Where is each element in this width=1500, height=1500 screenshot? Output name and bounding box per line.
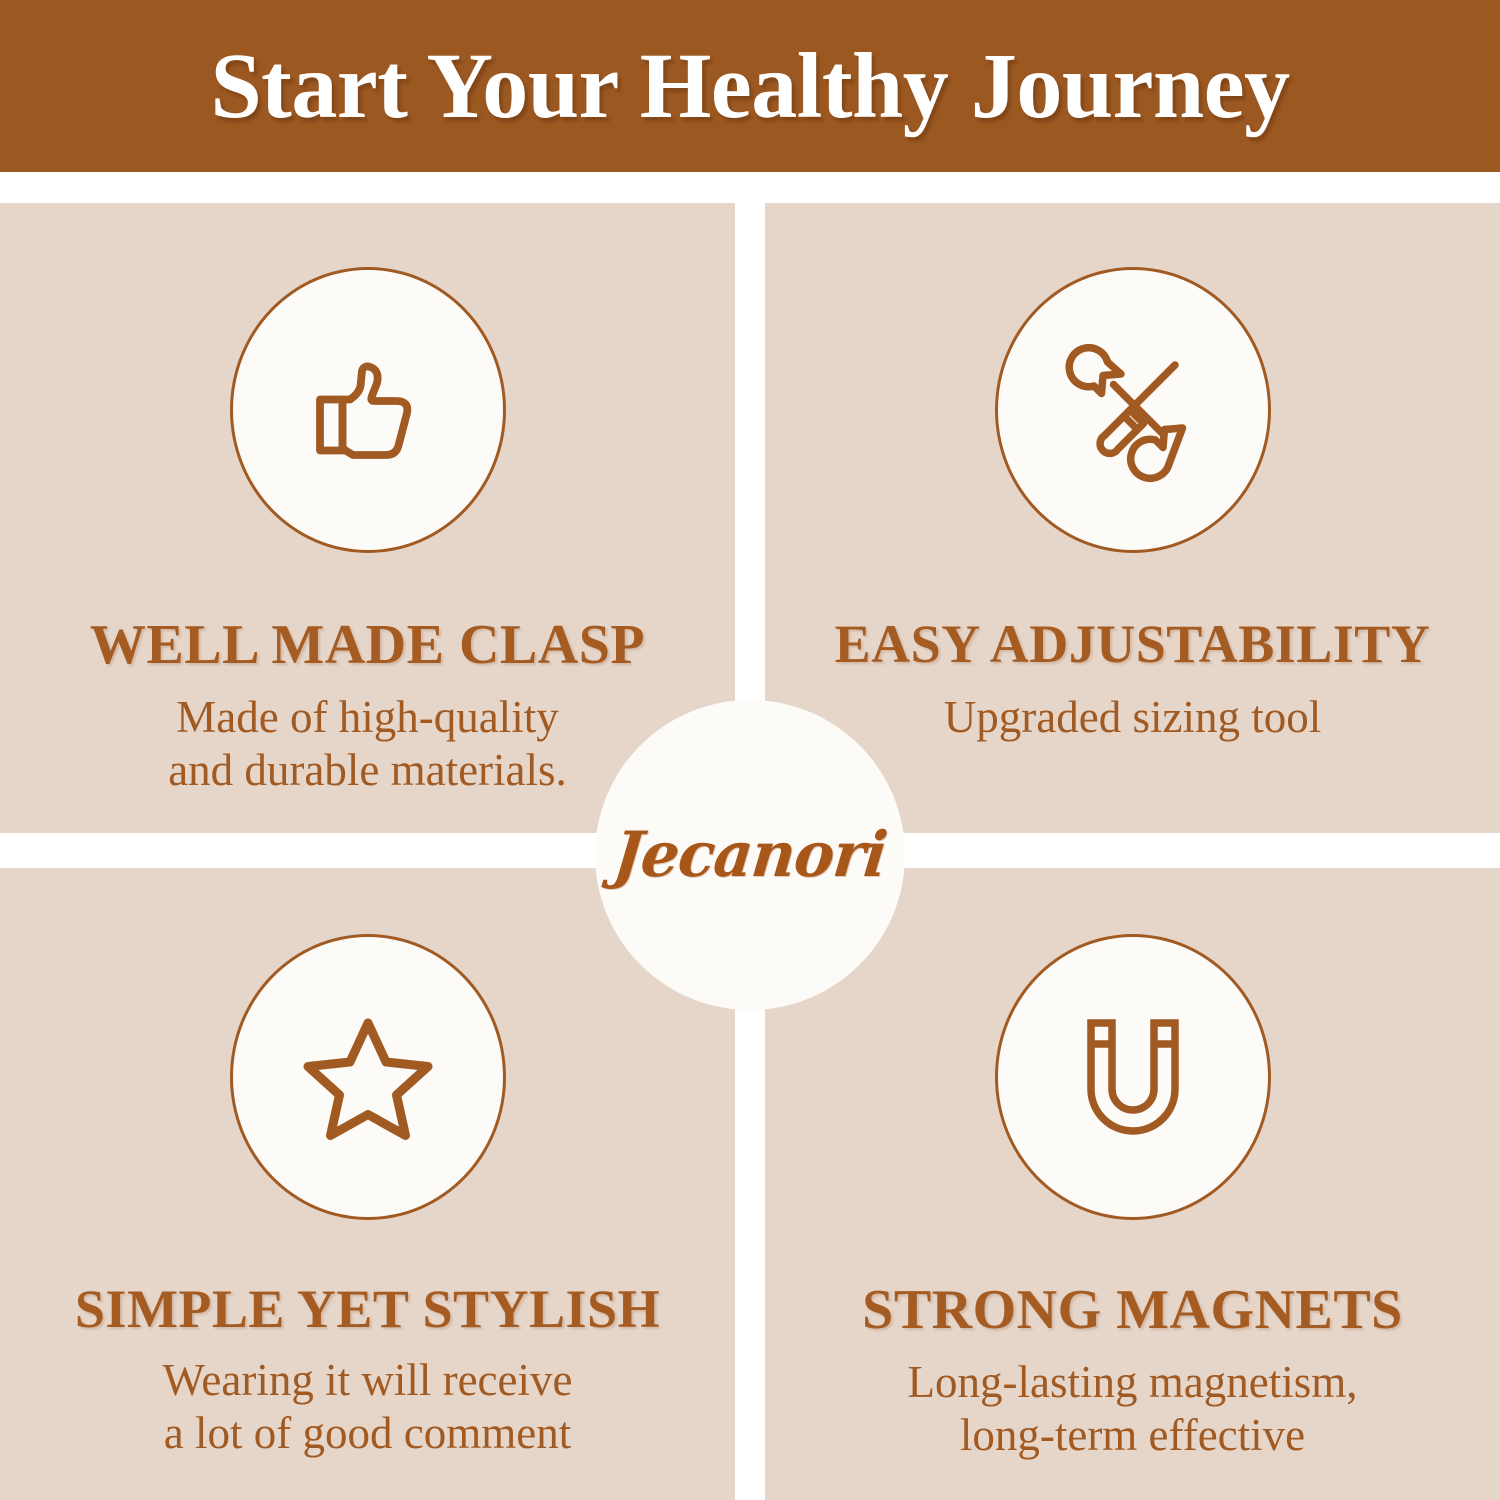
thumbs-up-icon xyxy=(293,335,443,485)
page-title: Start Your Healthy Journey xyxy=(210,40,1289,133)
feature-description-line1: Wearing it will receive xyxy=(163,1355,573,1405)
feature-card-easy-adjustability: EASY ADJUSTABILITY Upgraded sizing tool xyxy=(765,203,1500,833)
feature-card-strong-magnets: STRONG MAGNETS Long-lasting magnetism, l… xyxy=(765,868,1500,1500)
wrench-screwdriver-icon xyxy=(1058,335,1208,485)
feature-description-line1: Upgraded sizing tool xyxy=(944,692,1321,742)
feature-description: Upgraded sizing tool xyxy=(914,691,1351,744)
feature-description: Wearing it will receive a lot of good co… xyxy=(133,1354,603,1460)
feature-title: EASY ADJUSTABILITY xyxy=(835,617,1431,671)
feature-description-line2: a lot of good comment xyxy=(164,1408,571,1458)
feature-title: STRONG MAGNETS xyxy=(862,1282,1403,1338)
feature-title: SIMPLE YET STYLISH xyxy=(75,1282,660,1336)
feature-description: Made of high-quality and durable materia… xyxy=(138,691,597,797)
feature-description-line2: long-term effective xyxy=(960,1410,1305,1460)
brand-badge: Jecanori xyxy=(595,700,905,1010)
icon-circle-wrench-screwdriver xyxy=(995,267,1271,553)
magnet-icon xyxy=(1058,1002,1208,1152)
icon-circle-thumbs-up xyxy=(230,267,506,553)
icon-circle-magnet xyxy=(995,934,1271,1220)
icon-circle-star xyxy=(230,934,506,1220)
feature-card-simple-yet-stylish: SIMPLE YET STYLISH Wearing it will recei… xyxy=(0,868,735,1500)
feature-description-line1: Made of high-quality xyxy=(176,692,558,742)
feature-description: Long-lasting magnetism, long-term effect… xyxy=(878,1356,1388,1462)
infographic-page: Start Your Healthy Journey WELL MADE CLA… xyxy=(0,0,1500,1500)
feature-card-well-made-clasp: WELL MADE CLASP Made of high-quality and… xyxy=(0,203,735,833)
star-icon xyxy=(293,1002,443,1152)
header-banner: Start Your Healthy Journey xyxy=(0,0,1500,172)
feature-title: WELL MADE CLASP xyxy=(90,617,645,673)
brand-logo-text: Jecanori xyxy=(610,819,890,892)
feature-description-line2: and durable materials. xyxy=(168,745,567,795)
feature-description-line1: Long-lasting magnetism, xyxy=(908,1357,1358,1407)
